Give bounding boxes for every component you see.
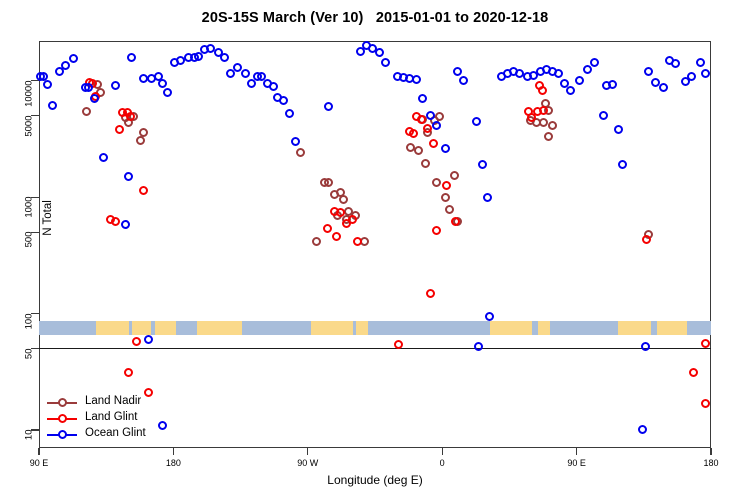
legend-ring-icon <box>58 430 67 439</box>
data-point <box>269 82 278 91</box>
x-tick-label: 90 E <box>9 458 69 468</box>
data-point <box>336 208 345 217</box>
data-point <box>472 117 481 126</box>
data-point <box>423 124 432 133</box>
data-point <box>48 101 57 110</box>
data-point <box>163 88 172 97</box>
data-point <box>332 232 341 241</box>
x-tick-mark <box>576 448 577 455</box>
data-point <box>608 80 617 89</box>
land-segment <box>633 321 639 335</box>
data-point <box>432 226 441 235</box>
data-point <box>69 54 78 63</box>
data-point <box>339 195 348 204</box>
x-tick-label: 180 <box>143 458 203 468</box>
land-ocean-map-band <box>39 321 711 335</box>
land-segment <box>132 321 151 335</box>
data-point <box>353 237 362 246</box>
data-point <box>429 139 438 148</box>
data-point <box>701 399 710 408</box>
chart-title: 20S-15S March (Ver 10) 2015-01-01 to 202… <box>0 10 750 26</box>
data-point <box>132 337 141 346</box>
data-point <box>453 67 462 76</box>
legend-marker <box>47 398 77 408</box>
data-point <box>701 69 710 78</box>
data-point <box>451 217 460 226</box>
data-point <box>539 106 548 115</box>
data-point <box>483 193 492 202</box>
land-segment <box>96 321 129 335</box>
data-point <box>111 81 120 90</box>
x-axis-label: Longitude (deg E) <box>0 473 750 487</box>
legend-ring-icon <box>58 414 67 423</box>
data-point <box>139 128 148 137</box>
data-point <box>566 86 575 95</box>
data-point <box>417 115 426 124</box>
legend-item: Land Glint <box>47 411 207 427</box>
x-tick-label: 90 E <box>547 458 607 468</box>
legend-marker <box>47 414 77 424</box>
data-point <box>450 171 459 180</box>
data-point <box>82 107 91 116</box>
land-segment <box>155 321 176 335</box>
data-point <box>583 65 592 74</box>
chart-legend: Land NadirLand GlintOcean Glint <box>47 395 207 443</box>
data-point <box>126 112 135 121</box>
data-point <box>241 69 250 78</box>
x-tick-label: 90 W <box>278 458 338 468</box>
x-tick-mark <box>442 448 443 455</box>
legend-marker <box>47 430 77 440</box>
data-point <box>426 289 435 298</box>
x-tick-mark <box>38 448 39 455</box>
legend-ring-icon <box>58 398 67 407</box>
data-point <box>144 335 153 344</box>
data-point <box>375 48 384 57</box>
data-point <box>641 342 650 351</box>
land-segment <box>356 321 368 335</box>
data-point <box>644 67 653 76</box>
y-tick-label: 500 <box>24 232 35 278</box>
legend-label: Land Glint <box>85 411 137 423</box>
data-point <box>432 178 441 187</box>
land-segment <box>311 321 353 335</box>
legend-item: Land Nadir <box>47 395 207 411</box>
data-point <box>312 237 321 246</box>
data-point <box>84 83 93 92</box>
data-point <box>220 53 229 62</box>
land-segment <box>657 321 687 335</box>
y-tick-label: 5000 <box>24 115 35 161</box>
data-point <box>671 59 680 68</box>
land-segment <box>538 321 550 335</box>
land-segment <box>490 321 532 335</box>
data-point <box>590 58 599 67</box>
legend-label: Ocean Glint <box>85 427 146 439</box>
data-point <box>441 193 450 202</box>
y-tick-label: 10 <box>24 429 35 475</box>
x-tick-mark <box>173 448 174 455</box>
y-tick-label: 50 <box>24 348 35 394</box>
data-point <box>459 76 468 85</box>
x-tick-mark <box>710 448 711 455</box>
data-point <box>111 217 120 226</box>
data-point <box>474 342 483 351</box>
data-point <box>696 58 705 67</box>
data-point <box>99 153 108 162</box>
x-tick-label: 0 <box>412 458 472 468</box>
x-tick-label: 180 <box>681 458 741 468</box>
data-point <box>539 118 548 127</box>
data-point <box>324 178 333 187</box>
x-tick-mark <box>307 448 308 455</box>
data-point <box>127 53 136 62</box>
legend-label: Land Nadir <box>85 395 141 407</box>
data-point <box>323 224 332 233</box>
threshold-line <box>39 348 711 349</box>
data-point <box>687 72 696 81</box>
data-point <box>139 186 148 195</box>
data-point <box>701 339 710 348</box>
legend-item: Ocean Glint <box>47 427 207 443</box>
data-point <box>381 58 390 67</box>
scatter-plot-figure: 20S-15S March (Ver 10) 2015-01-01 to 202… <box>0 0 750 500</box>
land-segment <box>197 321 242 335</box>
plot-frame <box>39 41 711 448</box>
data-point <box>689 368 698 377</box>
